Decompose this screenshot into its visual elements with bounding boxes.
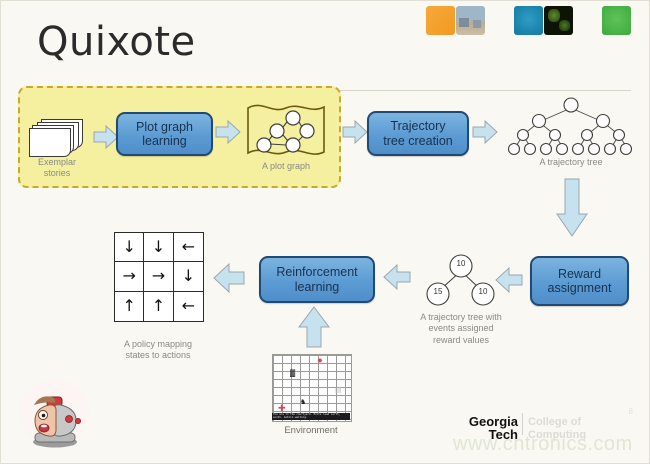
joystick-mascot-icon	[19, 379, 91, 449]
slide-canvas: Quixote Exemplar stories Plot graph lear…	[0, 0, 650, 464]
arrow-right-2	[215, 119, 241, 145]
arrow-left-1	[495, 266, 523, 294]
exemplar-stories-caption: Exemplar stories	[19, 157, 95, 180]
orange-square-thumb	[426, 6, 455, 35]
policy-cell: →	[144, 262, 173, 291]
policy-cell: ↑	[144, 292, 173, 321]
arrow-right-3	[342, 119, 368, 145]
logo-divider	[522, 413, 523, 435]
trajectory-tree-caption: A trajectory tree	[511, 157, 631, 168]
arrow-left-3	[213, 262, 245, 294]
env-marker-object-icon: ▓	[290, 370, 295, 377]
reward-tree-root-value: 10	[450, 259, 472, 268]
policy-caption: A policy mapping states to actions	[106, 339, 210, 362]
policy-grid: ↓ ↓ ← → → ↓ ↑ ↑ ←	[114, 232, 204, 322]
blue-square-thumb	[514, 6, 543, 35]
reward-tree-caption: A trajectory tree with events assigned r…	[399, 312, 523, 346]
policy-cell: ←	[174, 233, 203, 262]
trajectory-tree-figure	[503, 95, 639, 157]
plot-graph-figure	[244, 102, 328, 160]
photo-thumb-city-icon	[456, 6, 485, 35]
college-line1: College of	[528, 416, 581, 428]
env-marker-agent-icon: ♞	[300, 399, 306, 406]
arrow-up-1	[297, 305, 331, 349]
reward-assignment-box[interactable]: Reward assignment	[530, 256, 629, 306]
reward-tree-figure: 10 15 10	[425, 253, 497, 308]
environment-status-bar: You are in the courtyard. Exits lead nor…	[272, 413, 350, 420]
title-divider	[331, 90, 631, 91]
policy-cell: ↓	[115, 233, 144, 262]
arrow-down-1	[555, 178, 589, 238]
plot-graph-learning-box[interactable]: Plot graph learning	[116, 112, 213, 156]
policy-cell: ←	[174, 292, 203, 321]
green-square-thumb	[602, 6, 631, 35]
env-marker-start-icon: ✚	[278, 404, 286, 413]
policy-cell: ↑	[115, 292, 144, 321]
policy-cell: ↓	[174, 262, 203, 291]
watermark-text: www.cntronics.com	[453, 433, 633, 456]
policy-cell: →	[115, 262, 144, 291]
policy-cell: ↓	[144, 233, 173, 262]
environment-caption: Environment	[272, 425, 350, 437]
photo-thumb-foliage-icon	[544, 6, 573, 35]
reward-tree-left-value: 15	[427, 287, 449, 296]
env-marker-faint-icon: ▤	[335, 387, 342, 394]
page-title: Quixote	[37, 19, 196, 65]
arrow-right-4	[472, 119, 498, 145]
environment-map-figure: ✹ ▓ ▤ ♞ ✚	[272, 354, 352, 422]
env-marker-goal-icon: ✹	[317, 358, 323, 365]
trajectory-tree-creation-box[interactable]: Trajectory tree creation	[367, 111, 469, 156]
arrow-left-2	[383, 263, 411, 291]
reinforcement-learning-box[interactable]: Reinforcement learning	[259, 256, 375, 303]
reward-tree-right-value: 10	[472, 287, 494, 296]
page-number: 8	[629, 407, 633, 416]
exemplar-stories-icon	[29, 119, 85, 157]
plot-graph-caption: A plot graph	[244, 161, 328, 172]
